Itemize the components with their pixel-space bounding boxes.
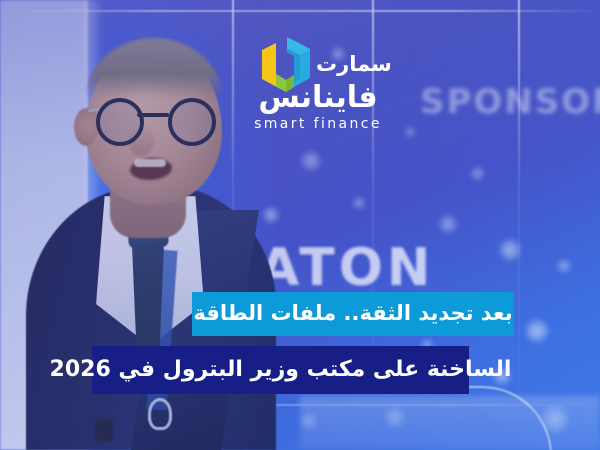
glasses-lens-left [96, 98, 144, 146]
microphone [95, 418, 113, 442]
backdrop-sponsors-text: SPONSORS [420, 82, 600, 122]
teeth [134, 159, 166, 167]
brand-logo[interactable]: سمارت فاينانس smart finance [248, 30, 388, 140]
logo-english-tagline: smart finance [250, 116, 386, 132]
backdrop-seam [518, 0, 520, 450]
headline-banner-primary: بعد تجديد الثقة.. ملفات الطاقة [192, 292, 514, 336]
glasses-lens-right [168, 98, 216, 146]
eyeglasses [88, 98, 222, 138]
logo-arabic-top: سمارت [316, 52, 392, 76]
hair [86, 38, 222, 98]
badge-clip [148, 398, 172, 430]
news-card: SPONSORS RATON [0, 0, 600, 450]
glasses-bridge [137, 113, 169, 117]
logo-arabic-main: فاينانس [250, 80, 386, 115]
headline-banner-secondary: الساخنة على مكتب وزير البترول في 2026 [92, 346, 469, 394]
